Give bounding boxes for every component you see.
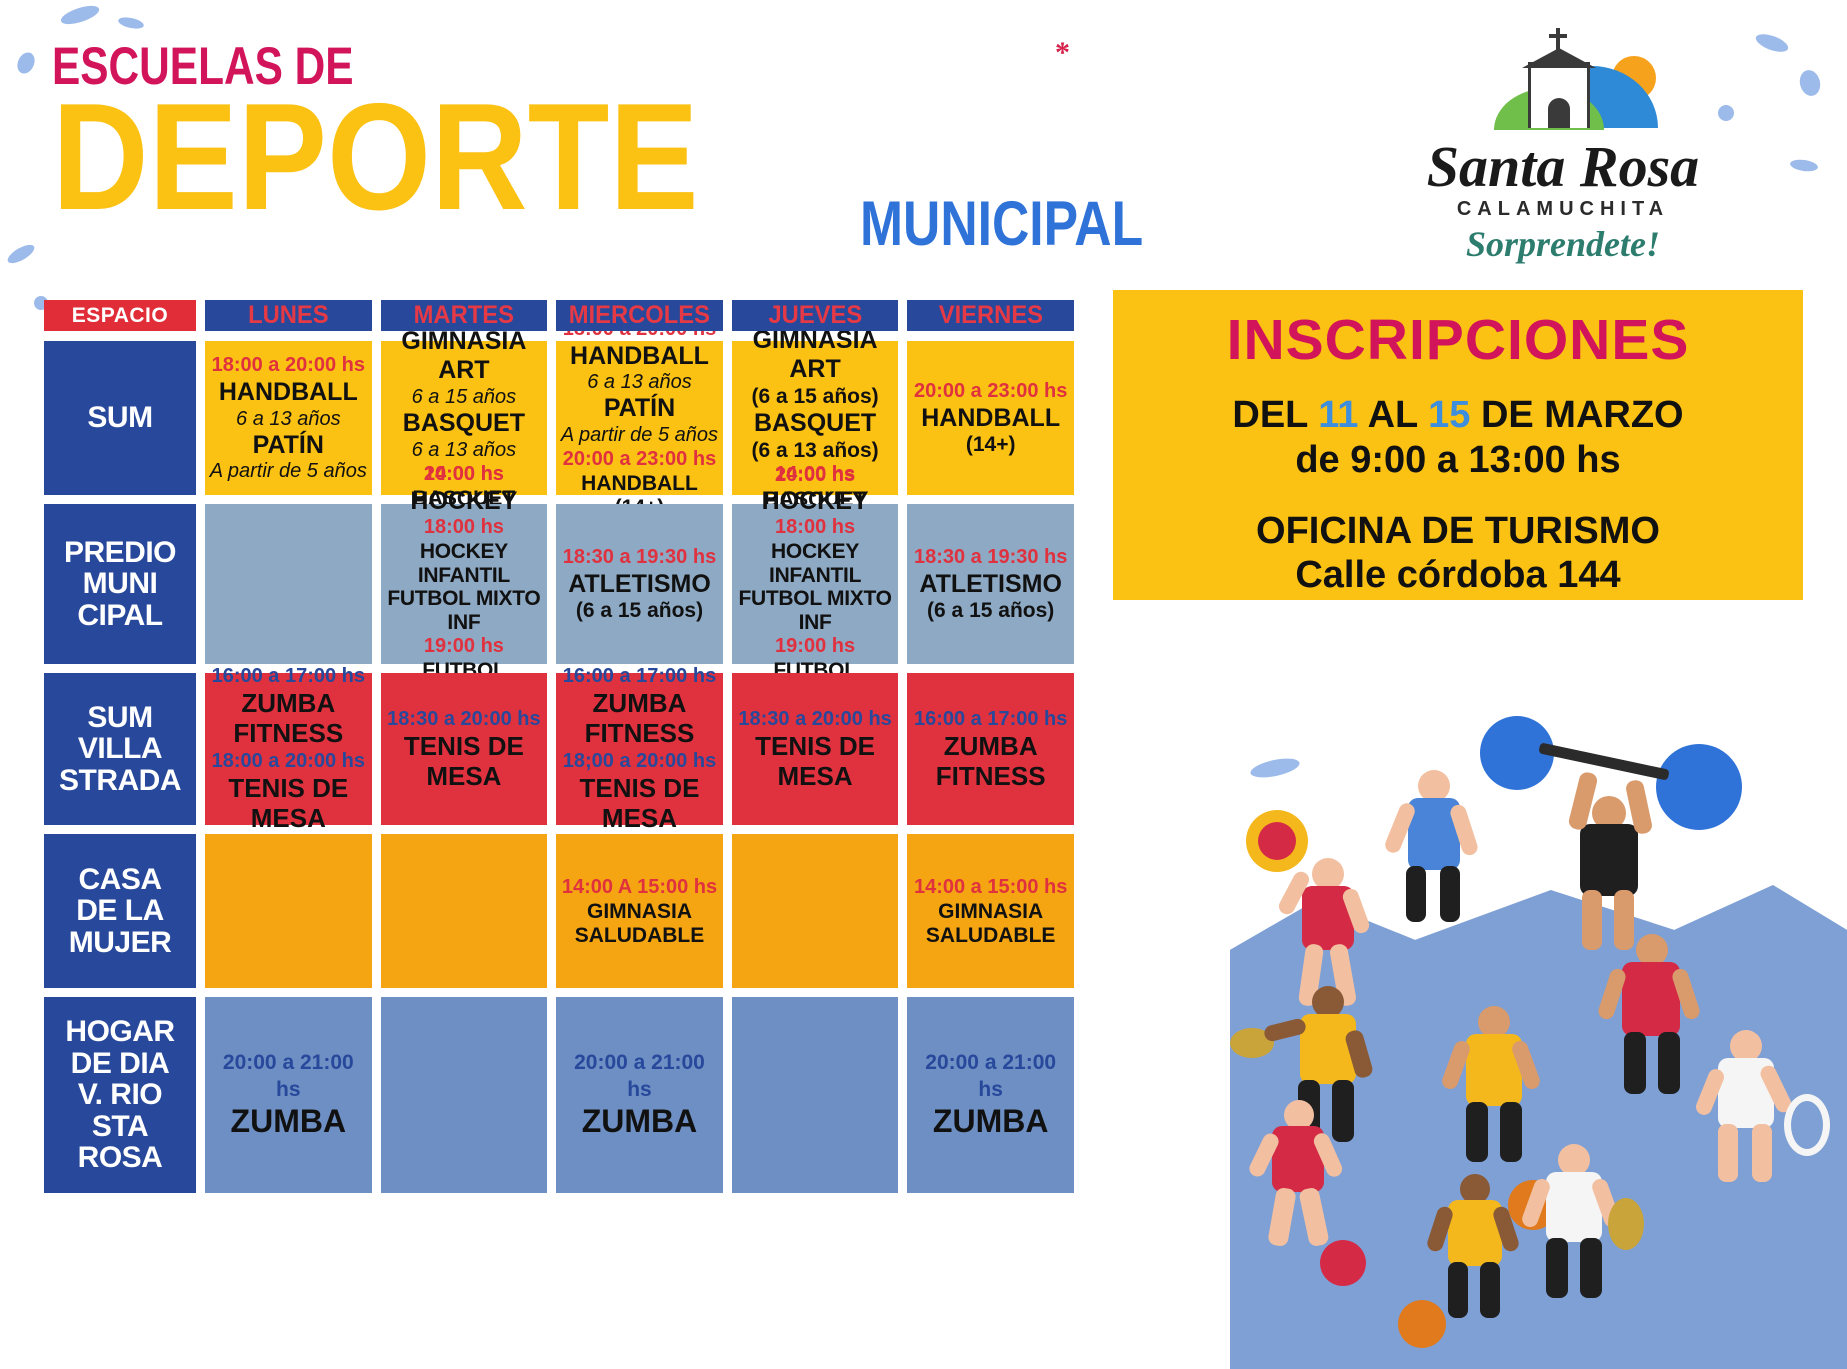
cell-activity: BASQUET — [754, 409, 876, 438]
row-label-line: DE DIA — [71, 1048, 170, 1080]
asterisk-mark: * — [1055, 36, 1070, 70]
date-to: 15 — [1428, 394, 1470, 436]
header-day-viernes: VIERNES — [907, 300, 1074, 331]
volleyball-stripe — [1258, 822, 1296, 860]
cell-activity: ZUMBA — [582, 1103, 698, 1140]
ball — [1320, 1240, 1366, 1286]
cell-time: 18:30 a 19:30 hs — [914, 545, 1067, 570]
cell-activity: ZUMBA — [231, 1103, 347, 1140]
cell-activity: HANDBALL — [570, 342, 709, 371]
cell-age-note: (6 a 15 años) — [576, 598, 703, 623]
cell-activity: BASQUET — [403, 409, 525, 438]
athlete-leg — [1267, 1187, 1297, 1248]
cell-casa-de-la-mujer-viernes[interactable]: 14:00 a 15:00 hsGIMNASIA SALUDABLE — [907, 834, 1074, 988]
cell-hogar-de-dia-viernes[interactable]: 20:00 a 21:00 hsZUMBA — [907, 997, 1074, 1193]
cell-activity: GIMNASIA ART — [384, 327, 545, 385]
cell-age-note: (6 a 15 años) — [751, 384, 878, 409]
athlete-leg — [1752, 1124, 1772, 1182]
row-label-line: VILLA — [78, 733, 162, 765]
date-prefix: DEL — [1232, 394, 1318, 436]
cell-sum-villa-strada-lunes[interactable]: 16:00 a 17:00 hsZUMBA FITNESS18:00 a 20:… — [205, 673, 372, 825]
logo-name: Santa Rosa — [1398, 138, 1728, 196]
cell-age-note: (14+) — [966, 432, 1016, 457]
day-label: MIERCOLES — [569, 301, 710, 330]
paint-splash-decoration — [1754, 31, 1791, 56]
athlete-basketball-bottom — [1380, 1170, 1570, 1369]
cell-time: 16:00 a 17:00 hs — [212, 664, 365, 689]
office-name: OFICINA DE TURISMO — [1256, 509, 1660, 554]
cell-age-note: 6 a 13 años — [236, 407, 341, 431]
inscripciones-title: INSCRIPCIONES — [1227, 312, 1690, 369]
cell-time: 20:00 a 21:00 hs — [559, 1050, 720, 1103]
paint-splash-decoration — [1789, 158, 1818, 173]
cell-sum-villa-strada-jueves[interactable]: 18:30 a 20:00 hsTENIS DE MESA — [732, 673, 899, 825]
paint-splash-decoration — [59, 2, 101, 28]
cell-time: 18:00 hs — [424, 515, 504, 540]
cell-age-note: 6 a 13 años — [587, 370, 692, 394]
table-header-row: ESPACIO LUNES MARTES MIERCOLES JUEVES VI… — [44, 300, 1074, 331]
cell-hogar-de-dia-lunes[interactable]: 20:00 a 21:00 hsZUMBA — [205, 997, 372, 1193]
athlete-torso — [1580, 824, 1638, 896]
cell-predio-municipal-lunes[interactable] — [205, 504, 372, 664]
athlete-weightlifter — [1480, 710, 1740, 960]
schedule-table: ESPACIO LUNES MARTES MIERCOLES JUEVES VI… — [44, 300, 1074, 1193]
cell-time: 16:00 a 17:00 hs — [914, 707, 1067, 732]
date-from: 11 — [1318, 394, 1358, 436]
weight-plate — [1656, 744, 1742, 830]
athlete-leg — [1624, 1032, 1646, 1094]
day-label: JUEVES — [768, 301, 862, 330]
cell-casa-de-la-mujer-lunes[interactable] — [205, 834, 372, 988]
cell-predio-municipal-viernes[interactable]: 18:30 a 19:30 hsATLETISMO(6 a 15 años) — [907, 504, 1074, 664]
cell-time: 18:00 a 20:00 hs — [212, 749, 365, 774]
chapel-door — [1548, 98, 1570, 128]
athletes-illustration — [1230, 700, 1847, 1369]
row-label-line: ROSA — [78, 1142, 163, 1174]
cell-time: 14:00 hs — [424, 462, 504, 487]
athlete-leg — [1480, 1262, 1500, 1318]
office-street: Calle córdoba 144 — [1256, 553, 1660, 598]
row-label-sum-villa-strada: SUMVILLASTRADA — [44, 673, 196, 825]
cell-time: 18;00 a 20:00 hs — [563, 749, 716, 774]
cell-predio-municipal-martes[interactable]: 14:00 hsHOCKEY18:00 hsHOCKEY INFANTILFUT… — [381, 504, 548, 664]
day-label: LUNES — [248, 301, 328, 330]
cell-age-note: 6 a 15 años — [412, 385, 517, 409]
inscripciones-hours: de 9:00 a 13:00 hs — [1232, 438, 1683, 483]
header-espacio: ESPACIO — [44, 300, 196, 331]
athlete-runner-blue — [1340, 760, 1510, 1000]
cell-sum-villa-strada-viernes[interactable]: 16:00 a 17:00 hsZUMBA FITNESS — [907, 673, 1074, 825]
table-row-predio-municipal: PREDIOMUNICIPAL14:00 hsHOCKEY18:00 hsHOC… — [44, 504, 1074, 664]
cell-time: 18:30 a 19:30 hs — [563, 545, 716, 570]
title-line-deporte: DEPORTE — [52, 98, 699, 217]
cell-sum-villa-strada-martes[interactable]: 18:30 a 20:00 hsTENIS DE MESA — [381, 673, 548, 825]
athlete-tennis — [1660, 1020, 1847, 1270]
cell-age-note: 6 a 13 años — [412, 438, 517, 462]
cell-time: 20:00 a 21:00 hs — [208, 1050, 369, 1103]
barbell — [1538, 742, 1669, 780]
logo-chapel-icon — [1398, 22, 1728, 142]
santa-rosa-logo: Santa Rosa CALAMUCHITA Sorprendete! — [1398, 22, 1728, 248]
chapel-roof — [1522, 48, 1596, 68]
athlete-leg — [1580, 1238, 1602, 1298]
inscripciones-address: OFICINA DE TURISMO Calle córdoba 144 — [1256, 509, 1660, 599]
cell-activity: ZUMBA FITNESS — [208, 689, 369, 749]
row-label-line: CASA — [78, 864, 161, 896]
row-label-line: SUM — [87, 702, 152, 734]
cell-sum-miercoles[interactable]: 18:00 a 20:00 hsHANDBALL6 a 13 añosPATÍN… — [556, 341, 723, 495]
cell-sum-villa-strada-miercoles[interactable]: 16:00 a 17:00 hsZUMBA FITNESS18;00 a 20:… — [556, 673, 723, 825]
cell-time: 18:30 a 20:00 hs — [738, 707, 891, 732]
cell-activity: HANDBALL — [219, 378, 358, 407]
row-label-predio-municipal: PREDIOMUNICIPAL — [44, 504, 196, 664]
cell-age-note: A partir de 5 años — [210, 459, 367, 483]
cell-activity: FUTBOL MIXTO INF — [735, 587, 896, 634]
cell-activity: ATLETISMO — [919, 570, 1062, 599]
cell-casa-de-la-mujer-jueves[interactable] — [732, 834, 899, 988]
cell-activity: GIMNASIA SALUDABLE — [559, 900, 720, 947]
cell-activity: TENIS DE MESA — [559, 774, 720, 834]
row-label-casa-de-la-mujer: CASADE LAMUJER — [44, 834, 196, 988]
row-label-line: STA — [92, 1111, 148, 1143]
cell-casa-de-la-mujer-martes[interactable] — [381, 834, 548, 988]
table-row-casa-de-la-mujer: CASADE LAMUJER14:00 A 15:00 hsGIMNASIA S… — [44, 834, 1074, 988]
cell-hogar-de-dia-martes[interactable] — [381, 997, 548, 1193]
cell-time: 20:00 a 21:00 hs — [910, 1050, 1071, 1103]
row-label-line: MUJER — [69, 927, 172, 959]
athlete-runner-bottom — [1230, 1080, 1390, 1320]
day-label: MARTES — [414, 301, 514, 330]
cell-time: 19:00 hs — [424, 634, 504, 659]
cell-age-note: (6 a 13 años) — [751, 438, 878, 463]
cell-activity: HOCKEY INFANTIL — [735, 540, 896, 587]
table-row-sum-villa-strada: SUMVILLASTRADA16:00 a 17:00 hsZUMBA FITN… — [44, 673, 1074, 825]
cell-age-note: A partir de 5 años — [561, 423, 718, 447]
date-suffix: DE MARZO — [1470, 394, 1683, 436]
row-label-line: SUM — [87, 402, 152, 434]
cell-predio-municipal-jueves[interactable]: 14:00 hsHOCKEY18:00 hsHOCKEY INFANTILFUT… — [732, 504, 899, 664]
cell-activity: ZUMBA FITNESS — [910, 732, 1071, 792]
cell-casa-de-la-mujer-miercoles[interactable]: 14:00 A 15:00 hsGIMNASIA SALUDABLE — [556, 834, 723, 988]
row-label-line: STRADA — [59, 765, 181, 797]
cell-time: 14:00 a 15:00 hs — [914, 875, 1067, 900]
cell-time: 14:00 hs — [775, 462, 855, 487]
cell-time: 20:00 a 23:00 hs — [914, 379, 1067, 404]
tennis-racket — [1784, 1094, 1830, 1156]
header-day-lunes: LUNES — [205, 300, 372, 331]
paint-splash-decoration — [5, 241, 37, 266]
title-line-municipal: MUNICIPAL — [860, 188, 1143, 260]
cell-activity: HOCKEY INFANTIL — [384, 540, 545, 587]
row-label-line: MUNI — [83, 568, 158, 600]
basketball — [1398, 1300, 1446, 1348]
cell-activity: FUTBOL MIXTO INF — [384, 587, 545, 634]
cell-activity: PATÍN — [604, 394, 675, 423]
cell-sum-lunes[interactable]: 18:00 a 20:00 hsHANDBALL6 a 13 añosPATÍN… — [205, 341, 372, 495]
athlete-leg — [1440, 866, 1460, 922]
inscripciones-panel: INSCRIPCIONES DEL 11 AL 15 DE MARZO de 9… — [1113, 290, 1803, 600]
row-label-sum: SUM — [44, 341, 196, 495]
cell-hogar-de-dia-miercoles[interactable]: 20:00 a 21:00 hsZUMBA — [556, 997, 723, 1193]
day-label: VIERNES — [939, 301, 1043, 330]
rugby-ball — [1608, 1198, 1644, 1250]
cell-activity: ZUMBA FITNESS — [559, 689, 720, 749]
cell-activity: HOCKEY — [410, 487, 517, 516]
cell-activity: TENIS DE MESA — [384, 732, 545, 792]
cell-activity: TENIS DE MESA — [208, 774, 369, 834]
athlete-leg — [1448, 1262, 1468, 1318]
cell-sum-viernes[interactable]: 20:00 a 23:00 hsHANDBALL(14+) — [907, 341, 1074, 495]
cross-icon — [1556, 28, 1560, 50]
table-body: SUM18:00 a 20:00 hsHANDBALL6 a 13 añosPA… — [44, 341, 1074, 1193]
inscripciones-dates: DEL 11 AL 15 DE MARZO de 9:00 a 13:00 hs — [1232, 393, 1683, 483]
cell-activity: PATÍN — [253, 431, 324, 460]
cell-predio-municipal-miercoles[interactable]: 18:30 a 19:30 hsATLETISMO(6 a 15 años) — [556, 504, 723, 664]
date-mid: AL — [1358, 394, 1428, 436]
cell-age-note: (6 a 15 años) — [927, 598, 1054, 623]
athlete-leg — [1718, 1124, 1738, 1182]
cell-time: 14:00 A 15:00 hs — [562, 875, 717, 900]
logo-tagline: Sorprendete! — [1398, 223, 1728, 265]
row-label-line: HOGAR — [65, 1016, 174, 1048]
poster-title: ESCUELAS DE DEPORTE — [52, 42, 787, 217]
cell-activity: ATLETISMO — [568, 570, 711, 599]
cell-activity: GIMNASIA SALUDABLE — [910, 900, 1071, 947]
paint-splash-decoration — [14, 50, 38, 77]
row-label-hogar-de-dia: HOGARDE DIAV. RIOSTAROSA — [44, 997, 196, 1193]
cell-time: 16:00 a 17:00 hs — [563, 664, 716, 689]
header-day-martes: MARTES — [381, 300, 548, 331]
athlete-leg — [1406, 866, 1426, 922]
row-label-line: DE LA — [76, 895, 164, 927]
cell-time: 19:00 hs — [775, 634, 855, 659]
header-day-miercoles: MIERCOLES — [556, 300, 723, 331]
paint-splash-decoration — [1797, 68, 1823, 98]
logo-subtitle: CALAMUCHITA — [1398, 198, 1728, 221]
athlete-leg — [1298, 1187, 1330, 1248]
cell-activity: ZUMBA — [933, 1103, 1049, 1140]
cell-time: 18:00 hs — [775, 515, 855, 540]
cell-activity: TENIS DE MESA — [735, 732, 896, 792]
cell-time: 20:00 a 23:00 hs — [563, 447, 716, 472]
date-range-line: DEL 11 AL 15 DE MARZO — [1232, 393, 1683, 438]
paint-splash-decoration — [117, 15, 145, 30]
table-row-sum: SUM18:00 a 20:00 hsHANDBALL6 a 13 añosPA… — [44, 341, 1074, 495]
row-label-line: V. RIO — [78, 1079, 162, 1111]
cell-time: 18:00 a 20:00 hs — [212, 353, 365, 378]
table-row-hogar-de-dia: HOGARDE DIAV. RIOSTAROSA20:00 a 21:00 hs… — [44, 997, 1074, 1193]
row-label-line: PREDIO — [64, 537, 176, 569]
cell-activity: GIMNASIA ART — [735, 326, 896, 384]
cell-activity: HANDBALL — [921, 404, 1060, 433]
header-day-jueves: JUEVES — [732, 300, 899, 331]
cell-time: 18:30 a 20:00 hs — [387, 707, 540, 732]
cell-hogar-de-dia-jueves[interactable] — [732, 997, 899, 1193]
cell-activity: HOCKEY — [762, 487, 869, 516]
row-label-line: CIPAL — [77, 600, 162, 632]
